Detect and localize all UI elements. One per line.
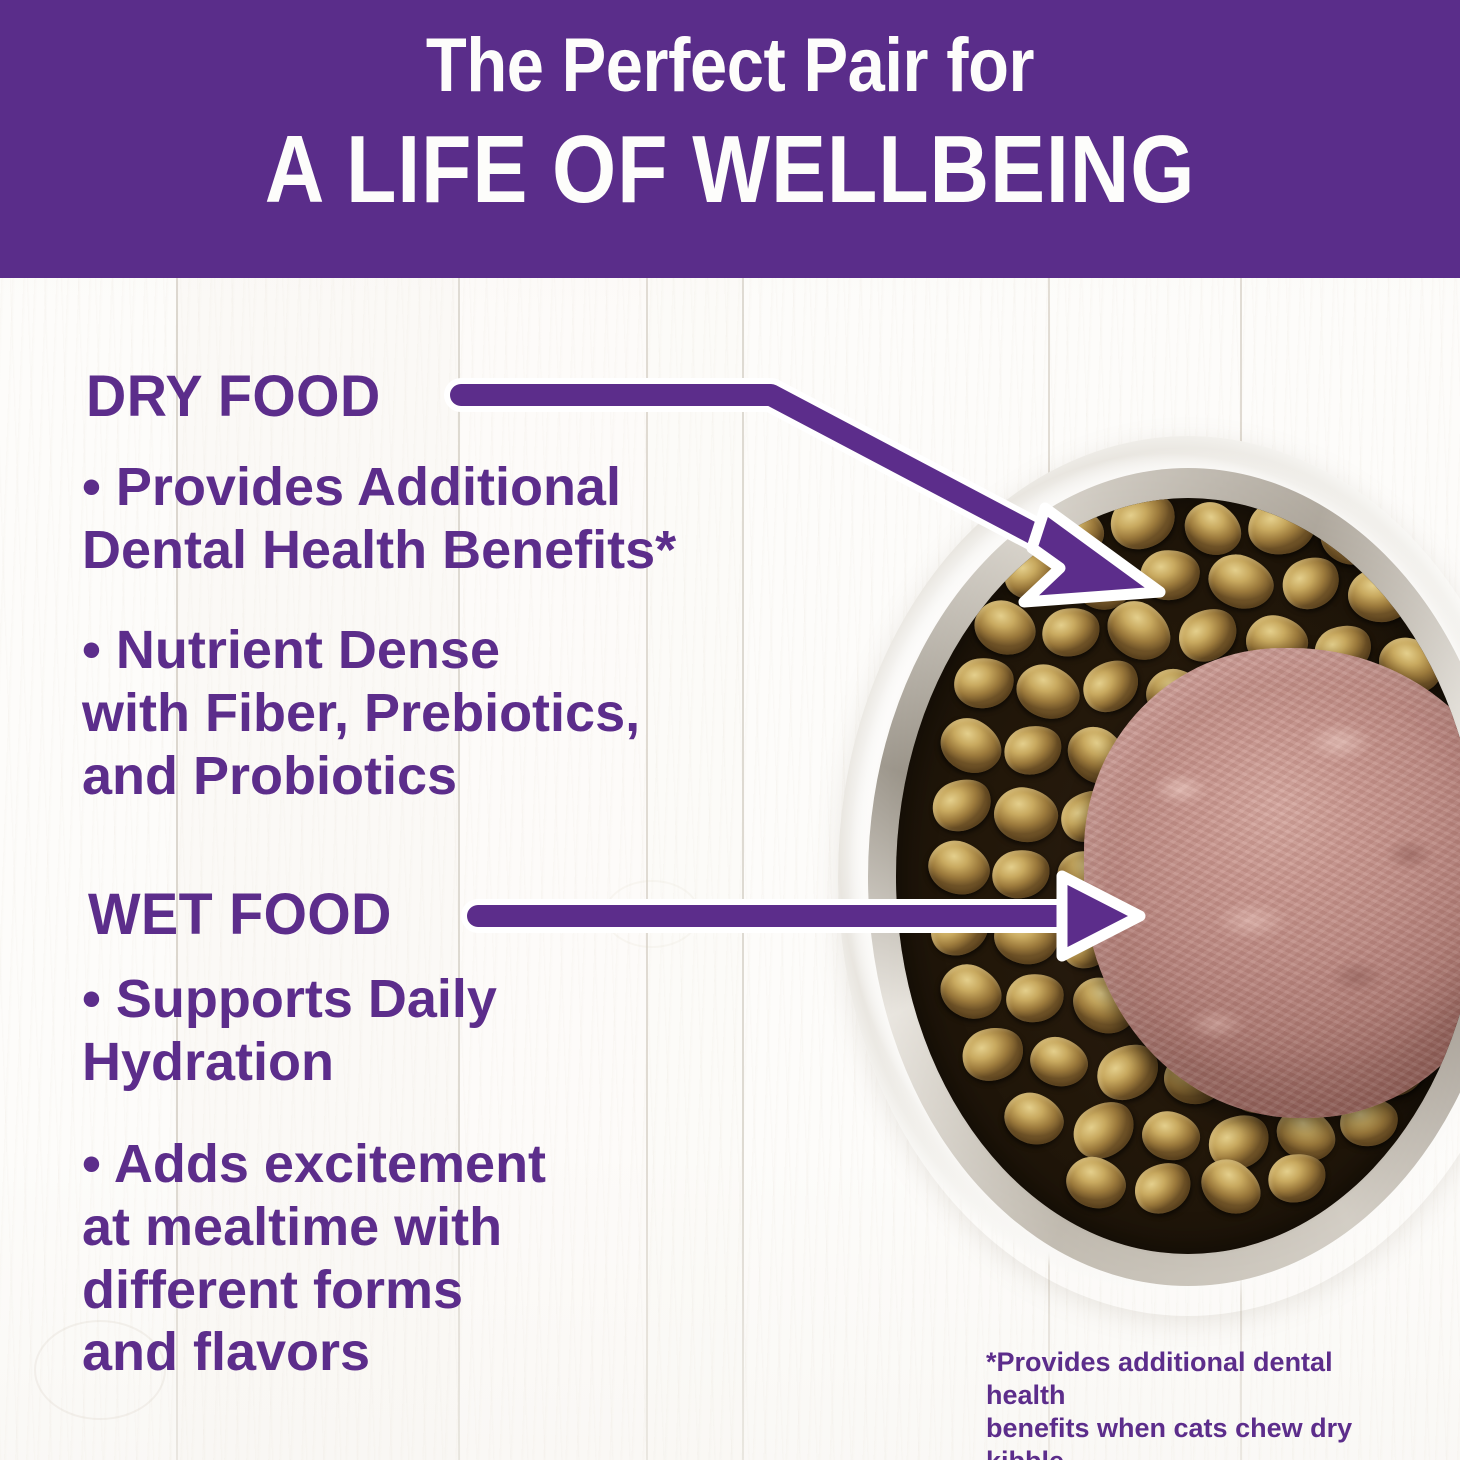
bullet-line: and Probiotics xyxy=(82,745,782,808)
bullet-list-wet-food: • Supports Daily Hydration • Adds excite… xyxy=(82,968,782,1402)
bullet-line: with Fiber, Prebiotics, xyxy=(82,682,782,745)
section-heading-wet-food: WET FOOD xyxy=(88,886,392,944)
bowl-food-area xyxy=(896,498,1460,1254)
list-item: • Supports Daily Hydration xyxy=(82,968,782,1093)
page-title-line2: A LIFE OF WELLBEING xyxy=(102,122,1358,218)
bullet-line: Hydration xyxy=(82,1031,782,1094)
bullet-line: • Adds excitement xyxy=(82,1133,782,1196)
wood-knot-mark-2 xyxy=(604,880,700,948)
wet-food-pate xyxy=(1084,648,1460,1118)
bullet-line: Dental Health Benefits* xyxy=(82,519,782,582)
footnote: *Provides additional dental health benef… xyxy=(986,1346,1416,1460)
page-title-line1: The Perfect Pair for xyxy=(88,28,1373,104)
bullet-line: • Provides Additional xyxy=(82,456,782,519)
section-heading-dry-food: DRY FOOD xyxy=(86,368,381,426)
bullet-list-dry-food: • Provides Additional Dental Health Bene… xyxy=(82,456,782,825)
poster-root: The Perfect Pair for A LIFE OF WELLBEING xyxy=(0,0,1460,1460)
bullet-line: • Nutrient Dense xyxy=(82,619,782,682)
food-bowl-photo xyxy=(838,436,1460,1316)
list-item: • Nutrient Dense with Fiber, Prebiotics,… xyxy=(82,619,782,807)
bullet-line: at mealtime with xyxy=(82,1196,782,1259)
footnote-line-1: *Provides additional dental health xyxy=(986,1346,1416,1412)
list-item: • Provides Additional Dental Health Bene… xyxy=(82,456,782,581)
bullet-line: • Supports Daily xyxy=(82,968,782,1031)
header-band: The Perfect Pair for A LIFE OF WELLBEING xyxy=(0,0,1460,278)
footnote-line-2: benefits when cats chew dry kibble xyxy=(986,1412,1416,1460)
list-item: • Adds excitement at mealtime with diffe… xyxy=(82,1133,782,1384)
bullet-line: different forms xyxy=(82,1259,782,1322)
bullet-line: and flavors xyxy=(82,1321,782,1384)
